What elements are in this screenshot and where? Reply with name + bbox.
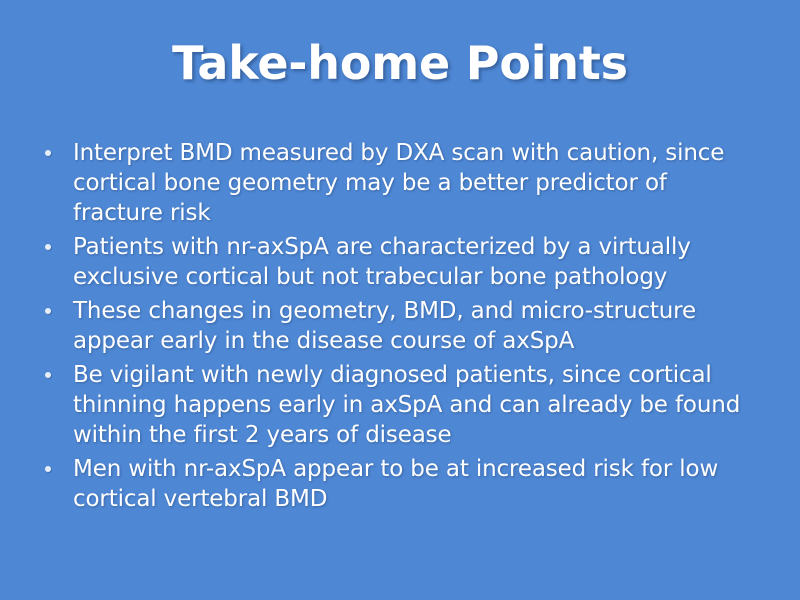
bullet-point-icon xyxy=(45,308,51,314)
list-item: Be vigilant with newly diagnosed patient… xyxy=(40,360,756,450)
page-title: Take-home Points xyxy=(0,38,800,90)
bullet-point-icon xyxy=(45,372,51,378)
bullet-list: Interpret BMD measured by DXA scan with … xyxy=(40,138,756,518)
bullet-point-icon xyxy=(45,150,51,156)
presentation-slide: Take-home Points Interpret BMD measured … xyxy=(0,0,800,600)
list-item: Men with nr-axSpA appear to be at increa… xyxy=(40,454,756,514)
bullet-point-icon xyxy=(45,466,51,472)
list-item: Patients with nr-axSpA are characterized… xyxy=(40,232,756,292)
list-item-label: Men with nr-axSpA appear to be at increa… xyxy=(73,454,756,514)
list-item-label: Patients with nr-axSpA are characterized… xyxy=(73,232,756,292)
list-item: Interpret BMD measured by DXA scan with … xyxy=(40,138,756,228)
list-item-label: These changes in geometry, BMD, and micr… xyxy=(73,296,756,356)
list-item-label: Be vigilant with newly diagnosed patient… xyxy=(73,360,756,450)
bullet-point-icon xyxy=(45,244,51,250)
list-item: These changes in geometry, BMD, and micr… xyxy=(40,296,756,356)
list-item-label: Interpret BMD measured by DXA scan with … xyxy=(73,138,756,228)
